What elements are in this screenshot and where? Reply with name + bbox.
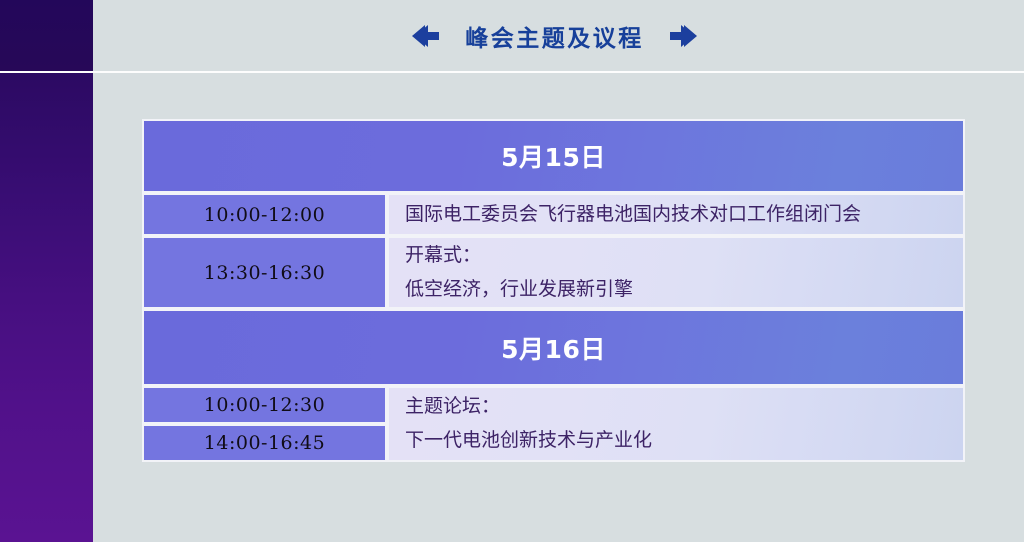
description-cell: 开幕式： 低空经济，行业发展新引擎: [387, 236, 965, 309]
description-line: 开幕式：: [405, 239, 963, 273]
table-row: 13:30-16:30 开幕式： 低空经济，行业发展新引擎: [142, 236, 965, 309]
table-row-day-header: 5月16日: [142, 309, 965, 386]
time-cell: 13:30-16:30: [142, 236, 387, 309]
page-title: 峰会主题及议程: [465, 19, 644, 53]
sidebar-top-block: [0, 0, 93, 71]
time-cell: 14:00-16:45: [142, 424, 387, 462]
description-line: 主题论坛：: [405, 390, 963, 424]
description-cell: 国际电工委员会飞行器电池国内技术对口工作组闭门会: [387, 193, 965, 236]
day-header-cell: 5月16日: [142, 309, 965, 386]
table-row: 10:00-12:30 主题论坛： 下一代电池创新技术与产业化: [142, 386, 965, 424]
header-divider-line: [0, 71, 1024, 73]
description-line: 低空经济，行业发展新引擎: [405, 273, 963, 307]
description-line: 国际电工委员会飞行器电池国内技术对口工作组闭门会: [405, 198, 963, 232]
header-inner: 峰会主题及议程: [412, 19, 697, 53]
table-row-day-header: 5月15日: [142, 119, 965, 193]
time-cell: 10:00-12:30: [142, 386, 387, 424]
table-row: 10:00-12:00 国际电工委员会飞行器电池国内技术对口工作组闭门会: [142, 193, 965, 236]
description-cell-merged: 主题论坛： 下一代电池创新技术与产业化: [387, 386, 965, 462]
day-header-cell: 5月15日: [142, 119, 965, 193]
slide-header: 峰会主题及议程: [93, 0, 1024, 71]
time-cell: 10:00-12:00: [142, 193, 387, 236]
left-decorative-sidebar: [0, 0, 93, 542]
double-arrow-left-icon: [412, 23, 446, 49]
slide-canvas: 峰会主题及议程 5月15日 10:00-12:00 国际电工委员会飞行器电池国内…: [0, 0, 1024, 542]
description-line: 下一代电池创新技术与产业化: [405, 424, 963, 458]
agenda-table: 5月15日 10:00-12:00 国际电工委员会飞行器电池国内技术对口工作组闭…: [142, 119, 965, 462]
double-arrow-right-icon: [663, 23, 697, 49]
